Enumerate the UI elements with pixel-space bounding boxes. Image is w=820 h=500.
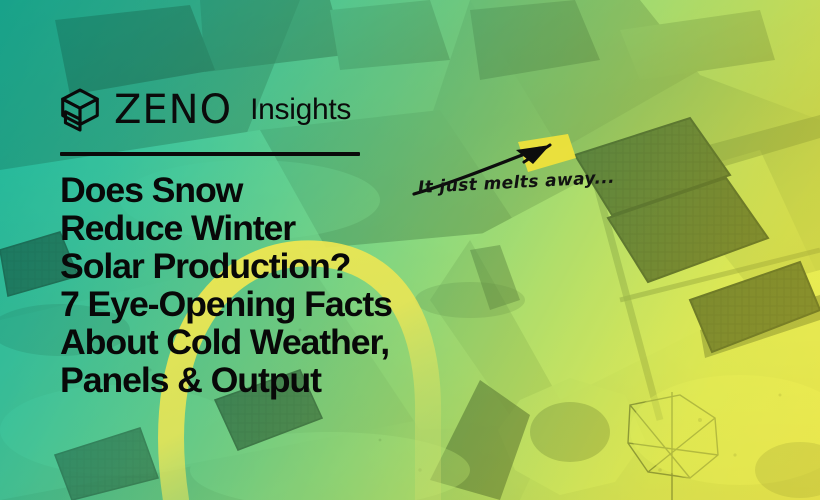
brand-sub-wordmark: Insights [250, 95, 351, 125]
brand-wordmark: ZENO [114, 90, 232, 130]
page-title: Does Snow Reduce Winter Solar Production… [60, 172, 529, 400]
brand-divider-rule [60, 152, 360, 156]
brand-lockup[interactable]: ZENO Insights [60, 88, 351, 132]
zeno-cube-logo-icon [60, 88, 100, 132]
hero-content: ZENO Insights Does Snow Reduce Winter So… [0, 0, 820, 500]
article-hero-card: ZENO Insights Does Snow Reduce Winter So… [0, 0, 820, 500]
